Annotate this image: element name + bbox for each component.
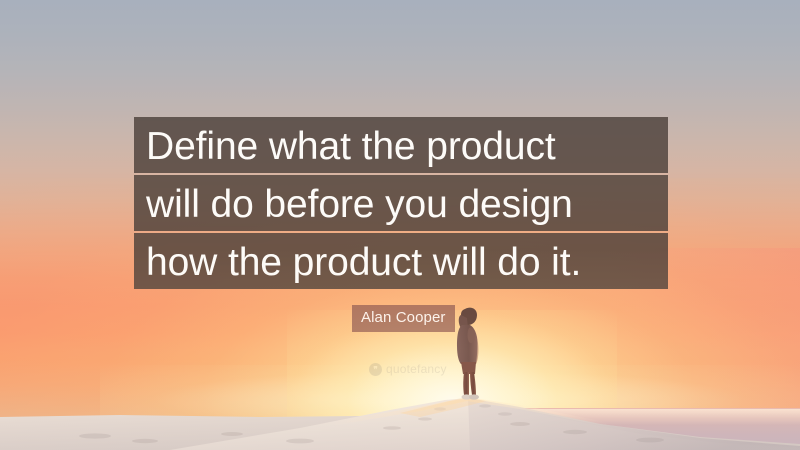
watermark: ❞ quotefancy: [369, 363, 447, 376]
quote-line-2: will do before you design: [134, 175, 668, 231]
quotefancy-badge-icon: ❞: [369, 363, 382, 376]
quote-line-3: how the product will do it.: [134, 233, 668, 289]
standing-person: [452, 306, 486, 402]
quote-block: Define what the product will do before y…: [134, 117, 668, 289]
quote-poster: Define what the product will do before y…: [0, 0, 800, 450]
watermark-label: quotefancy: [386, 363, 447, 376]
quote-line-1: Define what the product: [134, 117, 668, 173]
quote-author: Alan Cooper: [352, 305, 455, 332]
